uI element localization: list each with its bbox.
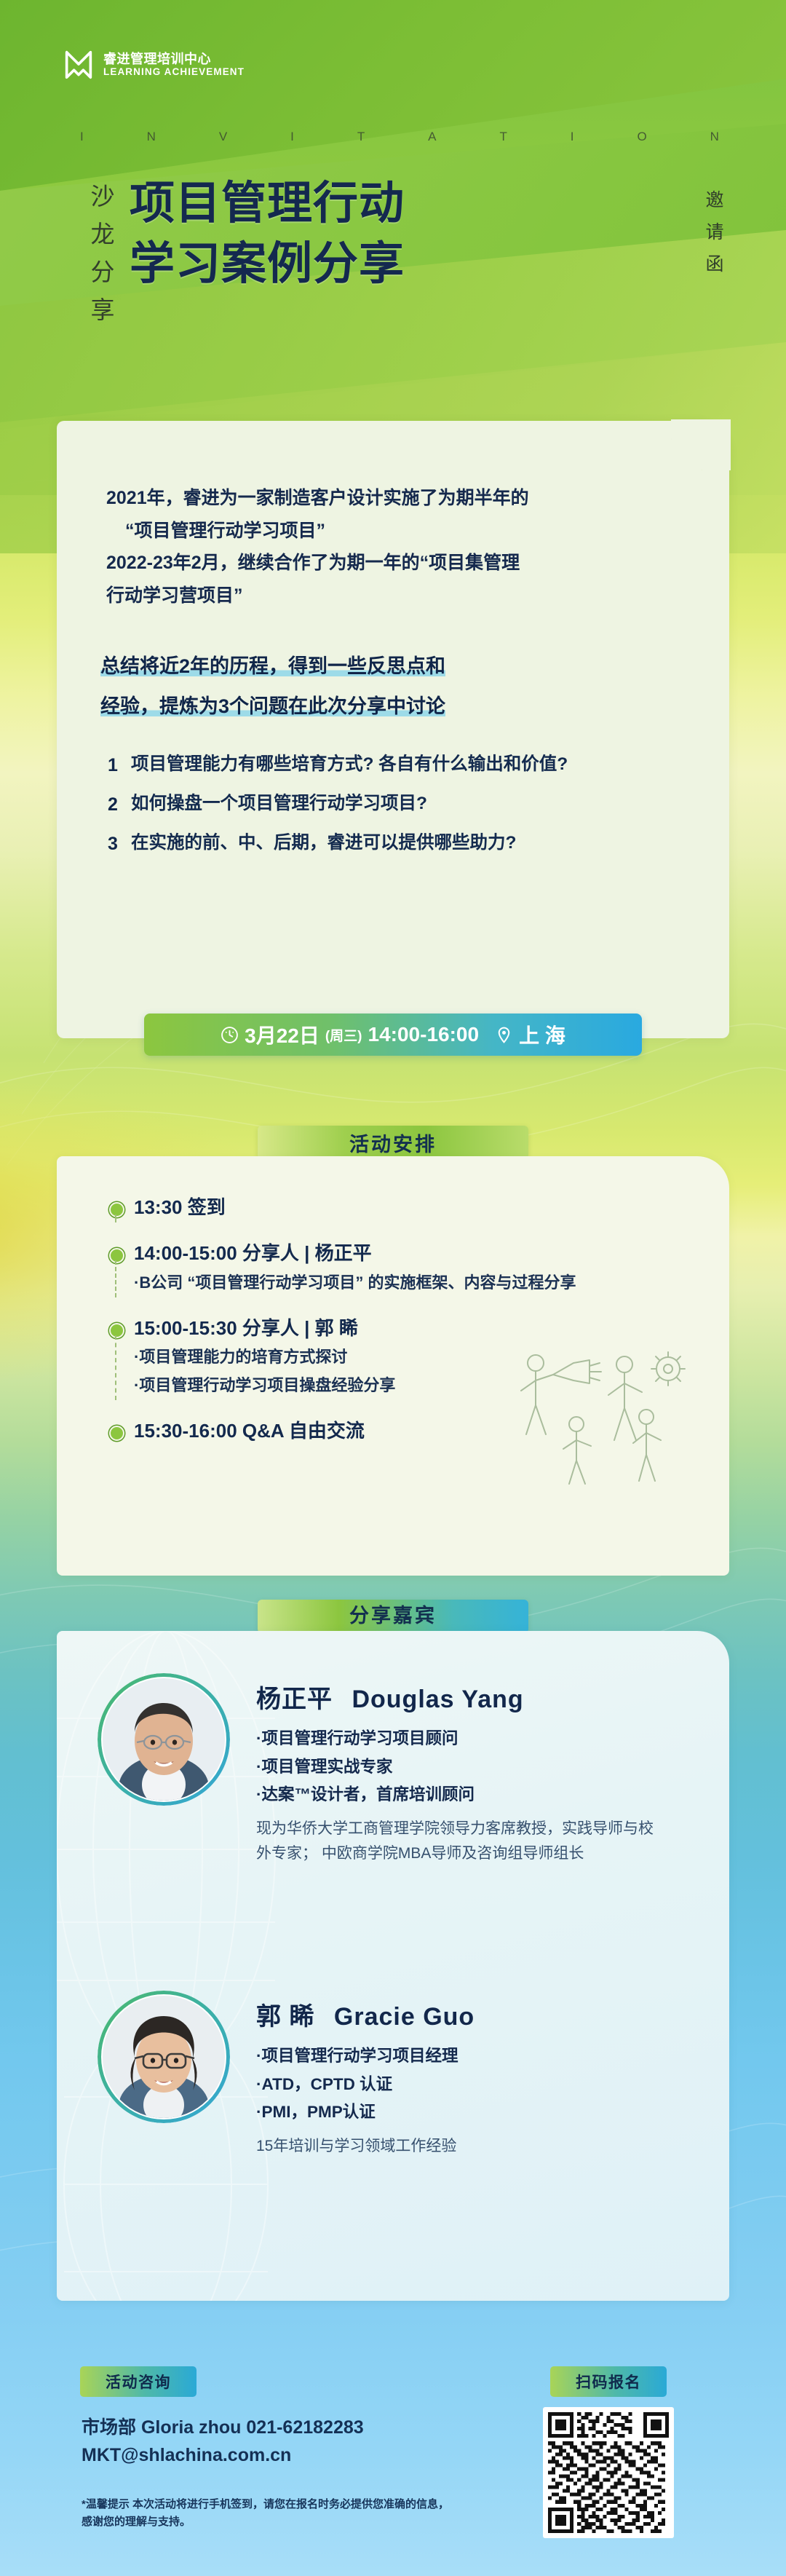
avatar-photo-guo [103,1996,225,2118]
guest-bullet: ·项目管理行动学习项目经理 [256,2042,475,2071]
guest-description: 15年培训与学习领域工作经验 [256,2134,475,2159]
intro-card: 2021年，睿进为一家制造客户设计实施了为期半年的 “项目管理行动学习项目” 2… [57,421,729,1038]
avatar [98,1991,230,2123]
hero-title-line2: 学习案例分享 [130,234,405,294]
contact-line-1: 市场部 Gloria zhou 021-62182283 [82,2414,533,2442]
invitation-letter: O [637,130,648,144]
event-weekday: (周三) [325,1025,362,1045]
invitation-word: I N V I T A T I O N [80,130,720,144]
guest-name-cn: 杨正平 [256,1686,333,1713]
schedule-time: 15:30-16:00 Q&A 自由交流 [134,1419,687,1443]
guest-info: 郭 睎 Gracie Guo ·项目管理行动学习项目经理 ·ATD，CPTD 认… [256,1991,475,2159]
guest-profile: 杨正平 Douglas Yang ·项目管理行动学习项目顾问 ·项目管理实战专家… [98,1673,664,1866]
guest-name: 杨正平 Douglas Yang [256,1679,664,1715]
event-date: 3月22日 [245,1020,319,1049]
side-vertical-char: 分 [86,253,119,291]
event-city: 上 海 [519,1020,565,1049]
guests-card: 杨正平 Douglas Yang ·项目管理行动学习项目顾问 ·项目管理实战专家… [57,1631,729,2301]
schedule-list: 13:30 签到 14:00-15:00 分享人 | 杨正平 ·B公司 “项目管… [105,1196,687,1443]
guest-bullet: ·PMI，PMP认证 [256,2098,475,2127]
guest-name-cn: 郭 睎 [256,2003,314,2031]
side-vertical-char: 龙 [86,216,119,253]
guest-bullet: ·ATD，CPTD 认证 [256,2071,475,2099]
intro-p2: “项目管理行动学习项目” [106,515,688,548]
qr-heading: 扫码报名 [550,2366,667,2397]
spacer [105,1397,687,1419]
location-pin-icon [495,1026,513,1044]
question-number: 3 [102,831,124,856]
brand-name-cn: 睿进管理培训中心 [103,52,245,67]
intro-paragraphs: 2021年，睿进为一家制造客户设计实施了为期半年的 “项目管理行动学习项目” 2… [106,482,688,612]
question-item: 2 如何操盘一个项目管理行动学习项目? [102,792,713,817]
card-corner-cut [671,419,731,470]
question-item: 3 在实施的前、中、后期，睿进可以提供哪些助力? [102,831,713,856]
guest-bullet: ·项目管理行动学习项目顾问 [256,1725,664,1753]
highlight-line2: 经验，提炼为3个问题在此次分享中讨论 [100,695,445,717]
guest-bullet: ·达案™设计者，首席培训顾问 [256,1781,664,1809]
event-datetime-bar: 3月22日 (周三) 14:00-16:00 上 海 [144,1014,642,1056]
question-text: 在实施的前、中、后期，睿进可以提供哪些助力? [131,831,516,856]
qr-code[interactable] [543,2407,674,2538]
schedule-time: 13:30 签到 [134,1196,687,1220]
contact-lines: 市场部 Gloria zhou 021-62182283 MKT@shlachi… [82,2414,533,2469]
spacer [105,1220,687,1241]
intro-p3: 2022-23年2月，继续合作了为期一年的“项目集管理 [106,547,688,580]
question-text: 如何操盘一个项目管理行动学习项目? [131,792,427,816]
footer-note: *温馨提示 本次活动将进行手机签到，请您在报名时务必提供您准确的信息， 感谢您的… [82,2496,547,2531]
schedule-item: 15:00-15:30 分享人 | 郭 睎 ·项目管理能力的培育方式探讨 ·项目… [105,1316,687,1397]
guest-description: 现为华侨大学工商管理学院领导力客席教授，实践导师与校外专家； 中欧商学院MBA导… [256,1817,664,1866]
schedule-heading: 活动安排 [258,1126,528,1159]
guest-bullet: ·项目管理实战专家 [256,1753,664,1782]
right-vertical-char: 函 [700,249,729,281]
contact-line-2: MKT@shlachina.com.cn [82,2442,533,2470]
question-item: 1 项目管理能力有哪些培育方式? 各自有什么输出和价值? [102,753,713,778]
portrait-male-icon [103,1678,225,1801]
guest-info: 杨正平 Douglas Yang ·项目管理行动学习项目顾问 ·项目管理实战专家… [256,1673,664,1866]
invitation-letter: V [219,130,229,144]
schedule-item: 13:30 签到 [105,1196,687,1220]
invitation-letter: N [710,130,720,144]
guest-name-en: Gracie Guo [334,2003,475,2031]
event-time: 14:00-16:00 [368,1023,480,1046]
question-number: 1 [102,753,124,778]
right-vertical-char: 邀 [700,185,729,217]
schedule-time: 14:00-15:00 分享人 | 杨正平 [134,1241,687,1265]
schedule-card: 13:30 签到 14:00-15:00 分享人 | 杨正平 ·B公司 “项目管… [57,1156,729,1576]
invitation-letter: A [428,130,437,144]
guest-name: 郭 睎 Gracie Guo [256,1996,475,2032]
side-vertical-char: 享 [86,291,119,329]
schedule-detail: ·B公司 “项目管理行动学习项目” 的实施框架、内容与过程分享 [134,1271,687,1295]
question-list: 1 项目管理能力有哪些培育方式? 各自有什么输出和价值? 2 如何操盘一个项目管… [102,753,713,871]
question-number: 2 [102,792,124,817]
clock-icon [221,1026,239,1044]
intro-highlight: 总结将近2年的历程，得到一些反思点和 经验，提炼为3个问题在此次分享中讨论 [100,647,704,727]
schedule-time: 15:00-15:30 分享人 | 郭 睎 [134,1316,687,1340]
footer-note-text: 本次活动将进行手机签到，请您在报名时务必提供您准确的信息， [132,2498,449,2510]
portrait-female-icon [103,1996,225,2118]
invitation-letter: I [290,130,295,144]
invitation-letter: N [147,130,157,144]
guest-profile: 郭 睎 Gracie Guo ·项目管理行动学习项目经理 ·ATD，CPTD 认… [98,1991,475,2159]
hero-side-vertical: 沙 龙 分 享 [86,178,119,330]
footer-note-label: *温馨提示 [82,2498,130,2510]
guest-name-en: Douglas Yang [352,1686,523,1713]
schedule-item: 14:00-15:00 分享人 | 杨正平 ·B公司 “项目管理行动学习项目” … [105,1241,687,1294]
intro-p1: 2021年，睿进为一家制造客户设计实施了为期半年的 [106,482,688,515]
invitation-letter: I [571,130,576,144]
hero-title-line1: 项目管理行动 [130,173,405,234]
schedule-detail: ·项目管理行动学习项目操盘经验分享 [134,1373,687,1397]
schedule-detail: ·项目管理能力的培育方式探讨 [134,1345,687,1369]
brand-name-en: LEARNING ACHIEVEMENT [103,66,245,78]
footer-note-text2: 感谢您的理解与支持。 [82,2513,547,2531]
brand-logo: 睿进管理培训中心 LEARNING ACHIEVEMENT [64,50,245,80]
guests-heading: 分享嘉宾 [258,1600,528,1633]
question-text: 项目管理能力有哪些培育方式? 各自有什么输出和价值? [131,753,568,777]
avatar-photo-yang [103,1678,225,1801]
spacer [105,1295,687,1316]
side-vertical-char: 沙 [86,178,119,216]
invitation-letter: I [80,130,85,144]
invitation-letter: T [357,130,366,144]
hero-title: 项目管理行动 学习案例分享 [130,173,405,294]
invitation-letter: T [499,130,508,144]
poster-root: 睿进管理培训中心 LEARNING ACHIEVEMENT I N V I T … [0,0,786,2576]
highlight-line1: 总结将近2年的历程，得到一些反思点和 [100,655,445,677]
hero-right-vertical: 邀 请 函 [700,185,729,280]
bowtie-logo-icon [64,50,93,80]
contact-heading: 活动咨询 [80,2366,196,2397]
schedule-item: 15:30-16:00 Q&A 自由交流 [105,1419,687,1443]
hero-title-zone: 沙 龙 分 享 项目管理行动 学习案例分享 邀 请 函 [0,169,786,380]
qr-code-icon [548,2412,669,2533]
intro-p4: 行动学习营项目” [106,580,688,612]
right-vertical-char: 请 [700,217,729,249]
avatar [98,1673,230,1806]
